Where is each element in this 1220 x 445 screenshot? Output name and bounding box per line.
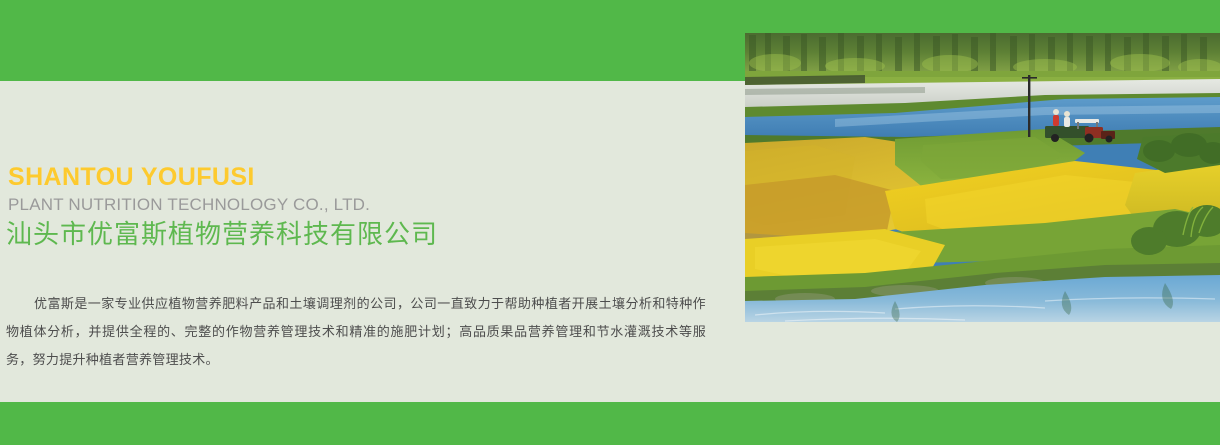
company-name-chinese: 汕头市优富斯植物营养科技有限公司 — [6, 220, 438, 250]
company-intro-paragraph: 优富斯是一家专业供应植物营养肥料产品和土壤调理剂的公司，公司一直致力于帮助种植者… — [6, 290, 706, 374]
farm-field-illustration — [745, 33, 1220, 322]
farm-field-photo — [745, 33, 1220, 322]
page-root: SHANTOU YOUFUSI PLANT NUTRITION TECHNOLO… — [0, 0, 1220, 445]
bottom-green-band — [0, 402, 1220, 445]
company-name-english: SHANTOU YOUFUSI — [8, 165, 255, 190]
company-intro-section: SHANTOU YOUFUSI PLANT NUTRITION TECHNOLO… — [0, 81, 730, 402]
company-tagline-english: PLANT NUTRITION TECHNOLOGY CO., LTD. — [8, 196, 370, 213]
